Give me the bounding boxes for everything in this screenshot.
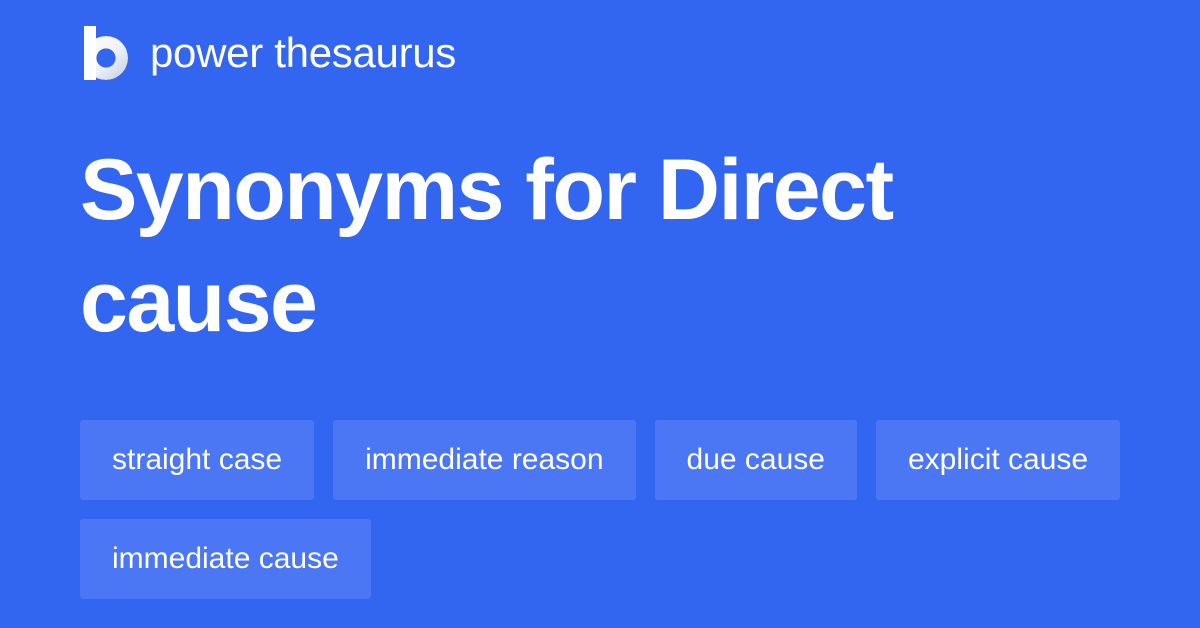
synonym-chip[interactable]: immediate cause <box>80 519 371 599</box>
page-title: Synonyms for Direct cause <box>80 134 1080 358</box>
synonym-chip[interactable]: straight case <box>80 420 314 500</box>
synonym-chip[interactable]: due cause <box>655 420 857 500</box>
brand-name: power thesaurus <box>150 32 456 74</box>
brand-header[interactable]: power thesaurus <box>80 26 456 80</box>
power-thesaurus-b-logo-icon <box>80 26 128 80</box>
synonyms-share-card: power thesaurus Synonyms for Direct caus… <box>0 0 1200 628</box>
synonym-chip[interactable]: immediate reason <box>333 420 635 500</box>
synonym-chip-list: straight case immediate reason due cause… <box>80 420 1140 599</box>
synonym-chip[interactable]: explicit cause <box>876 420 1120 500</box>
